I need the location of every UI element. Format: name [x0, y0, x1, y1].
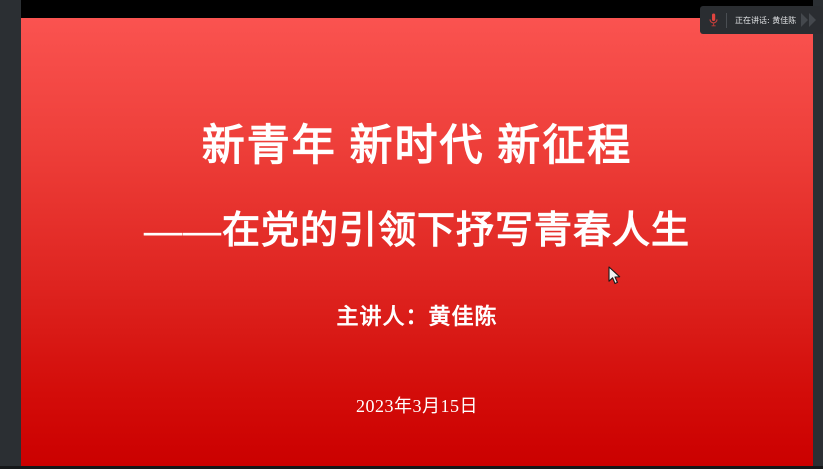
slide-title-main: 新青年 新时代 新征程 — [21, 122, 813, 171]
slide-content: 新青年 新时代 新征程 ——在党的引领下抒写青春人生 主讲人：黄佳陈 2023年… — [21, 18, 813, 466]
screen-capture: 新青年 新时代 新征程 ——在党的引领下抒写青春人生 主讲人：黄佳陈 2023年… — [0, 0, 823, 469]
presentation-slide: 新青年 新时代 新征程 ——在党的引领下抒写青春人生 主讲人：黄佳陈 2023年… — [21, 18, 813, 466]
slide-date-line: 2023年3月15日 — [21, 392, 813, 418]
active-speaker-label: 正在讲话: 黄佳陈 — [727, 15, 797, 26]
slide-title-subtitle: ——在党的引领下抒写青春人生 — [21, 210, 813, 254]
active-speaker-badge[interactable]: 正在讲话: 黄佳陈 — [700, 6, 823, 34]
double-chevron-right-icon[interactable] — [797, 6, 823, 34]
microphone-icon — [700, 6, 726, 34]
window-left-border — [0, 0, 21, 469]
window-right-border — [813, 0, 823, 469]
slide-presenter-line: 主讲人：黄佳陈 — [21, 299, 813, 331]
